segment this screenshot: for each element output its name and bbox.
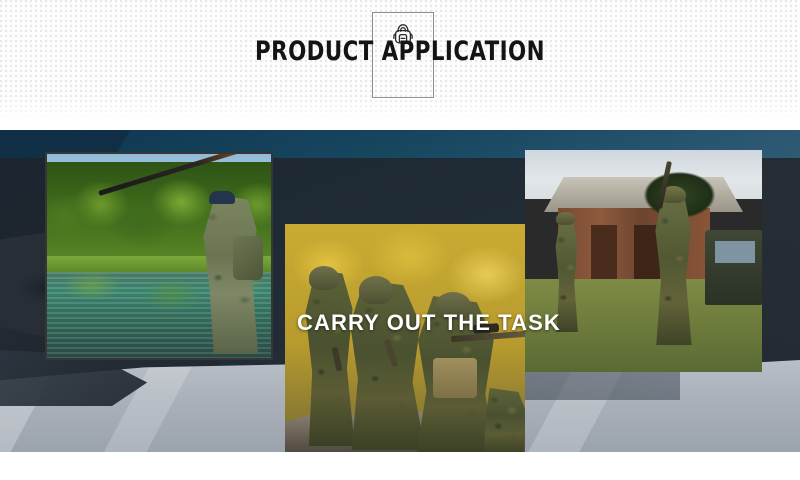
photo-military-training[interactable] xyxy=(525,150,762,372)
photo-carry-out-the-task[interactable] xyxy=(285,224,525,452)
header-fade xyxy=(0,96,800,130)
hero-section: HUNTING CARRY OUT THE TASK MILITARY TRAI… xyxy=(0,130,800,452)
product-application-banner: PRODUCT APPLICATION xyxy=(0,0,800,480)
military-helmet-left xyxy=(556,212,575,225)
hunting-backpack xyxy=(233,236,263,280)
military-truck-window xyxy=(715,241,755,263)
soldier-tactical-vest xyxy=(433,358,477,398)
label-carry-out-the-task: CARRY OUT THE TASK xyxy=(297,310,561,336)
soldier-helmet-2 xyxy=(359,276,393,304)
photo-hunting[interactable] xyxy=(45,152,273,360)
military-building-door-left xyxy=(591,225,617,283)
header-section: PRODUCT APPLICATION xyxy=(0,0,800,130)
soldier-helmet-1 xyxy=(309,266,339,290)
hunting-cap xyxy=(209,191,235,204)
page-title: PRODUCT APPLICATION xyxy=(48,38,752,65)
